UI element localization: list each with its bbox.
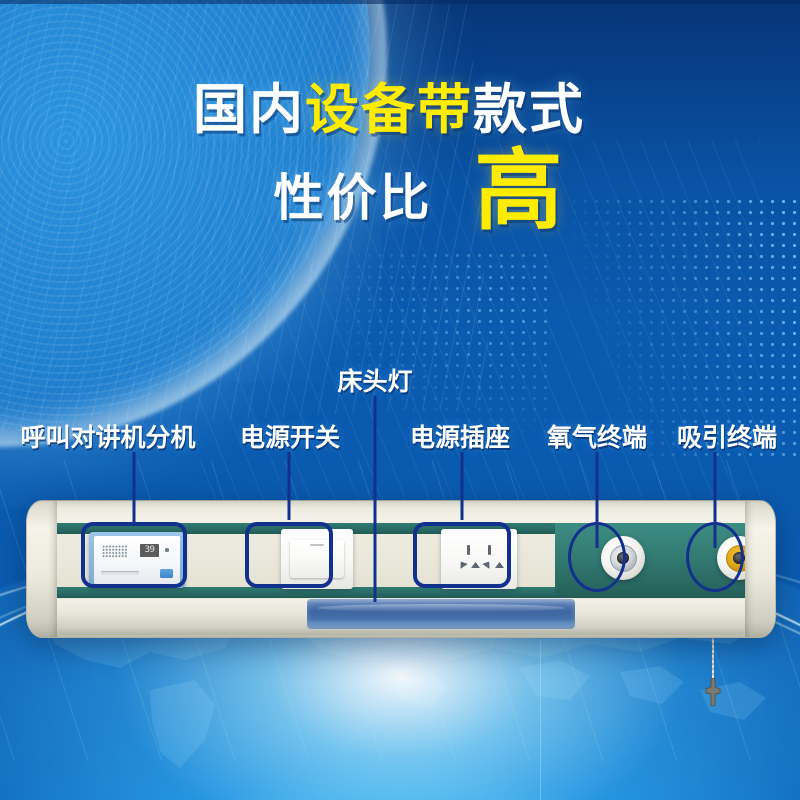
callout-label-suction: 吸引终端 bbox=[677, 418, 777, 454]
callout-label-socket: 电源插座 bbox=[410, 418, 510, 454]
callout-line-bedlamp bbox=[374, 396, 377, 602]
top-edge-band bbox=[0, 0, 800, 4]
callout-label-intercom: 呼叫对讲机分机 bbox=[20, 418, 195, 454]
callout-ring-oxygen bbox=[568, 522, 626, 592]
callout-label-oxygen: 氧气终端 bbox=[547, 418, 647, 454]
callout-label-bedlamp: 床头灯 bbox=[337, 362, 412, 398]
callout-label-switch: 电源开关 bbox=[240, 418, 340, 454]
callout-line-switch bbox=[288, 452, 291, 520]
callout-box-socket bbox=[413, 522, 511, 588]
callout-layer: 呼叫对讲机分机 电源开关 床头灯 电源插座 氧气终端 吸引终端 bbox=[0, 0, 800, 800]
callout-line-socket bbox=[461, 452, 464, 520]
promo-banner: 国内设备带款式 性价比 高 呼叫对讲机分机 电源开关 床头灯 电源插座 氧气终端… bbox=[0, 0, 800, 800]
callout-box-intercom bbox=[81, 522, 187, 588]
callout-box-switch bbox=[245, 522, 333, 588]
callout-line-intercom bbox=[133, 452, 136, 526]
callout-ring-suction bbox=[686, 522, 744, 592]
